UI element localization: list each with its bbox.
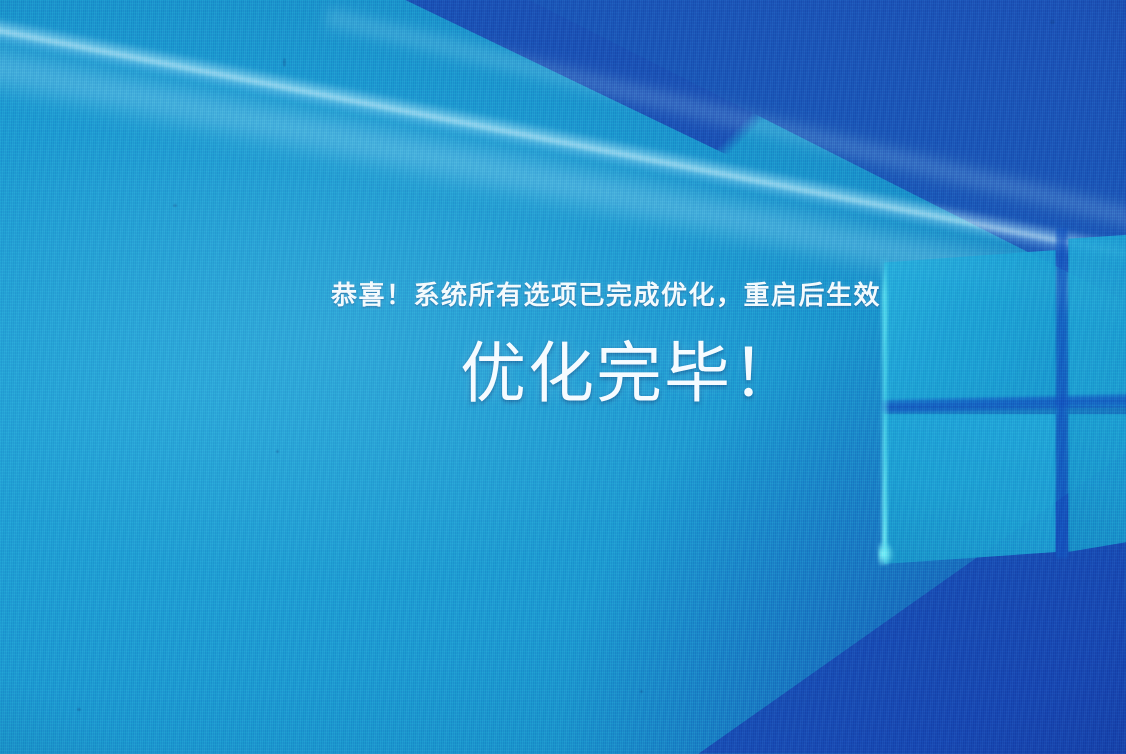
completion-message-block: 恭喜！系统所有选项已完成优化，重启后生效 优化完毕！ (0, 0, 1126, 754)
completion-subtitle: 恭喜！系统所有选项已完成优化，重启后生效 (0, 275, 1126, 312)
completion-title: 优化完毕！ (0, 341, 1126, 407)
desktop-screen: 恭喜！系统所有选项已完成优化，重启后生效 优化完毕！ (0, 0, 1126, 754)
